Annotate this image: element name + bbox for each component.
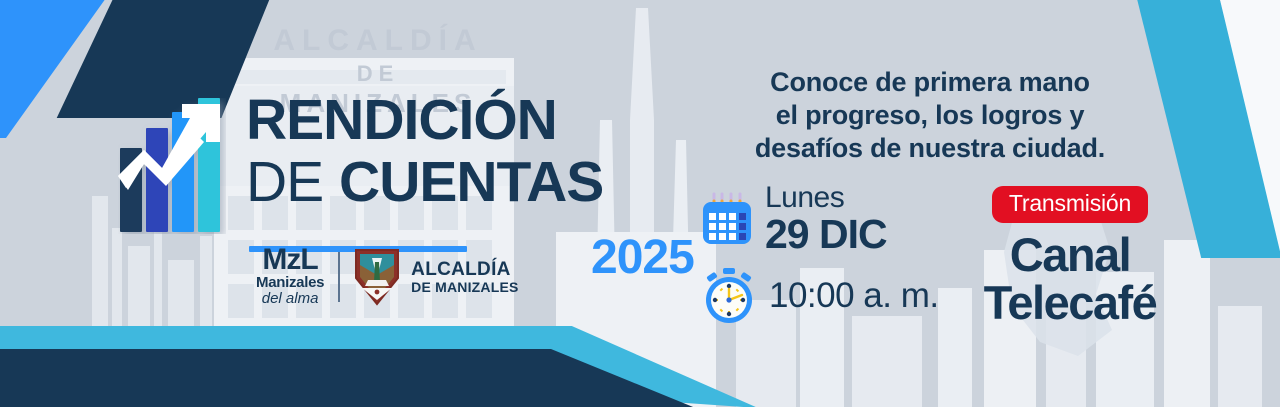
title-de: DE [246,150,323,214]
growth-bar-chart-icon [118,98,226,234]
event-time-row: 10:00 a. m. [700,267,940,325]
title-year: 2025 [591,234,694,282]
rendicion-de-cuentas-banner: ALCALDÍA DE MANIZALES [0,0,1280,407]
logo-row: MzL Manizales del alma ALCALDÍA DE MANIZ… [256,246,519,308]
headline-line-3: desafíos de nuestra ciudad. [700,132,1160,165]
event-datetime: Lunes 29 DIC [700,183,940,325]
title-block: RENDICIÓN DE CUENTAS 2025 [118,96,638,246]
alcaldia-text: ALCALDÍA DE MANIZALES [411,260,518,295]
mzl-tagline: del alma [262,290,319,308]
alcaldia-line-2: DE MANIZALES [411,280,518,295]
stopwatch-icon [700,267,758,325]
main-title: RENDICIÓN DE CUENTAS [246,92,603,212]
headline: Conoce de primera mano el progreso, los … [700,66,1160,165]
bg-text-line-1: ALCALDÍA [228,22,528,60]
mzl-logo: MzL Manizales del alma [256,246,324,309]
logo-divider [338,252,340,302]
event-date-text: Lunes 29 DIC [765,183,887,255]
title-line-2: DE CUENTAS [246,152,603,212]
bg-text-line-2: DE [228,60,528,88]
manizales-shield-icon [354,248,400,306]
transmission-badge: Transmisión [992,186,1148,223]
headline-line-2: el progreso, los logros y [700,99,1160,132]
event-date-row: Lunes 29 DIC [700,183,940,255]
event-day-label: Lunes [765,183,887,213]
alcaldia-logo: ALCALDÍA DE MANIZALES [354,248,518,306]
channel-name: Canal Telecafé [950,231,1190,327]
alcaldia-line-1: ALCALDÍA [411,260,518,280]
event-time: 10:00 a. m. [769,276,939,316]
calendar-icon [700,192,754,246]
event-date: 29 DIC [765,214,887,255]
broadcast-block: Transmisión Canal Telecafé [950,186,1190,327]
title-cuentas: CUENTAS [339,150,603,214]
title-line-1: RENDICIÓN [246,92,603,149]
channel-line-2: Telecafé [950,279,1190,327]
mzl-city-name: Manizales [256,274,324,291]
headline-line-1: Conoce de primera mano [700,66,1160,99]
mzl-wordmark: MzL [262,246,317,275]
channel-line-1: Canal [950,231,1190,279]
